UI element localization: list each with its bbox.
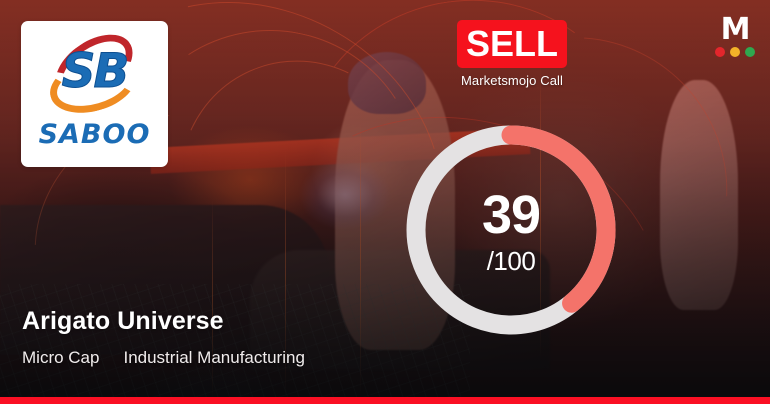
sector-label: Industrial Manufacturing — [123, 348, 304, 368]
recommendation-block: SELL Marketsmojo Call — [457, 20, 567, 88]
brand-letter: M — [713, 16, 757, 44]
bottom-accent-bar — [0, 397, 770, 404]
company-name: Arigato Universe — [22, 307, 224, 336]
call-badge-sell: SELL — [457, 20, 567, 68]
brand-dots — [715, 47, 755, 57]
score-value: 39 — [482, 188, 540, 242]
saboo-logo-icon: SB — [43, 39, 147, 113]
brand-dot-green — [745, 47, 755, 57]
call-caption: Marketsmojo Call — [457, 73, 567, 88]
score-gauge: 39 /100 — [403, 122, 619, 338]
logo-wordmark: SABOO — [39, 119, 151, 150]
company-logo-card: SB SABOO — [21, 21, 168, 167]
brand-dot-red — [715, 47, 725, 57]
marketsmojo-logo: M — [713, 16, 757, 57]
market-cap-label: Micro Cap — [22, 348, 99, 368]
company-meta: Micro Cap Industrial Manufacturing — [22, 348, 305, 368]
brand-dot-yellow — [730, 47, 740, 57]
logo-monogram: SB — [43, 48, 147, 95]
score-max: /100 — [487, 248, 536, 274]
score-readout: 39 /100 — [403, 122, 619, 338]
stock-summary-card: SB SABOO SELL Marketsmojo Call 39 /100 A… — [0, 0, 770, 404]
